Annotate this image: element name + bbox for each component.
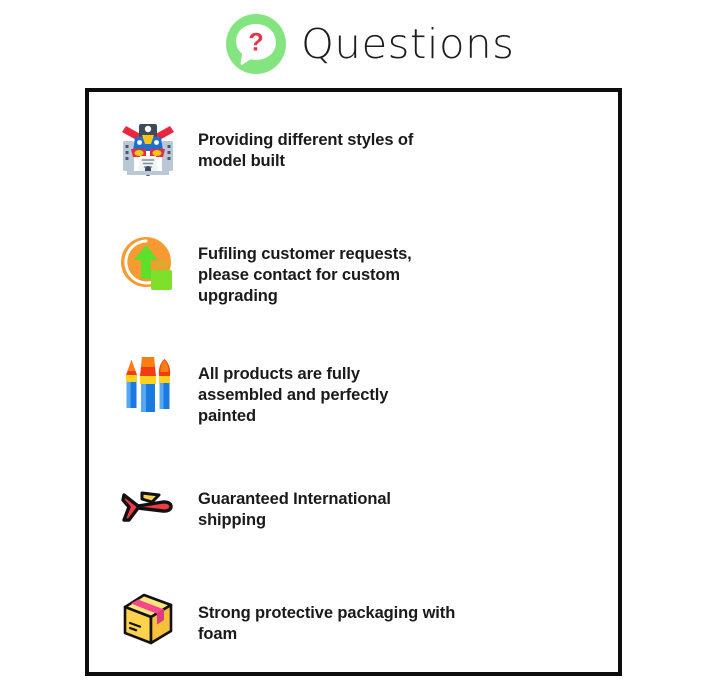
gundam-robot-head-icon: [118, 118, 178, 178]
list-item: Providing different styles of model buil…: [118, 118, 413, 178]
airplane-shipping-icon: [118, 475, 178, 535]
page-header: ? Questions: [0, 0, 727, 88]
list-item: Guaranteed International shipping: [118, 475, 391, 535]
page-title: Questions: [301, 24, 514, 65]
list-item-label: Providing different styles of model buil…: [198, 118, 413, 172]
list-item-label: Guaranteed International shipping: [198, 475, 391, 531]
upgrade-shopping-bag-icon: [118, 234, 178, 294]
list-item-label: All products are fully assembled and per…: [198, 354, 388, 427]
list-item: Strong protective packaging with foam: [118, 589, 455, 649]
package-box-icon: [118, 589, 178, 649]
list-item: Fufiling customer requests, please conta…: [118, 234, 412, 307]
questions-panel: Providing different styles of model buil…: [85, 88, 622, 676]
paint-brushes-icon: [118, 354, 178, 414]
list-item: All products are fully assembled and per…: [118, 354, 388, 427]
svg-text:?: ?: [248, 29, 263, 57]
questions-list: Providing different styles of model buil…: [89, 92, 618, 672]
question-speech-bubble-icon: ?: [225, 13, 287, 75]
list-item-label: Fufiling customer requests, please conta…: [198, 234, 412, 307]
list-item-label: Strong protective packaging with foam: [198, 589, 455, 645]
